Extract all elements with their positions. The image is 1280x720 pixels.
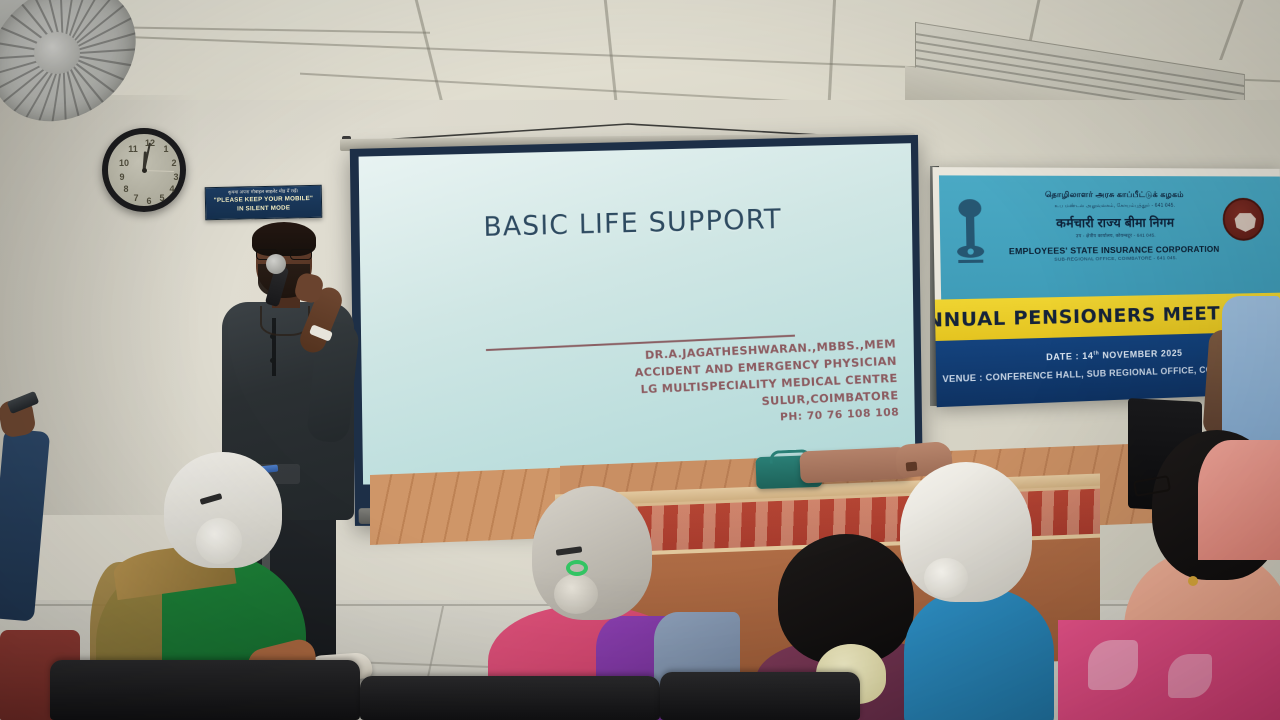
national-emblem-icon bbox=[954, 192, 987, 272]
clock-num: 3 bbox=[170, 172, 182, 182]
banner-tamil-org: தொழிலாளர் அரசு காப்பீட்டுக் கழகம் bbox=[939, 190, 1280, 201]
clock-num: 8 bbox=[120, 184, 132, 194]
audience-partial-right-shoulder bbox=[1198, 440, 1280, 560]
hair-bun bbox=[924, 558, 968, 598]
clock-num: 10 bbox=[118, 158, 130, 168]
audience-woman-blue-blouse bbox=[890, 462, 1070, 720]
conference-hall-scene: 12 1 2 3 4 5 6 7 8 9 10 11 कृपया अपना मो… bbox=[0, 0, 1280, 720]
clock-num: 1 bbox=[160, 144, 172, 154]
clock-num: 6 bbox=[143, 196, 155, 206]
clock-num: 5 bbox=[156, 193, 168, 203]
chair-back[interactable] bbox=[50, 660, 360, 720]
blue-blouse bbox=[904, 588, 1054, 720]
seal-inner-shape bbox=[1231, 209, 1259, 234]
chair-back[interactable] bbox=[660, 672, 860, 720]
saree-print-motif bbox=[1168, 654, 1212, 698]
chair-back[interactable] bbox=[360, 676, 660, 720]
wall-clock: 12 1 2 3 4 5 6 7 8 9 10 11 bbox=[102, 128, 186, 212]
audience-woman-pink-print-saree bbox=[1058, 620, 1280, 720]
banner-date-rest: NOVEMBER 2025 bbox=[1099, 348, 1182, 361]
microphone-head-icon bbox=[266, 254, 286, 274]
clock-second-hand bbox=[144, 170, 174, 172]
wall-mounted-fan bbox=[0, 0, 180, 132]
fan-cage bbox=[0, 0, 144, 139]
hair-bun bbox=[196, 518, 242, 564]
earring-icon bbox=[1188, 576, 1198, 586]
slide-canvas: BASIC LIFE SUPPORT DR.A.JAGATHESHWARAN.,… bbox=[359, 143, 916, 484]
clock-center-pin bbox=[142, 168, 147, 173]
clock-num: 11 bbox=[127, 144, 139, 154]
clock-num: 2 bbox=[168, 158, 180, 168]
banner-header-section: தொழிலாளர் அரசு காப்பீட்டுக் கழகம் உப மண்… bbox=[939, 175, 1280, 301]
slide-title: BASIC LIFE SUPPORT bbox=[359, 200, 912, 246]
saree-print-motif bbox=[1088, 640, 1138, 690]
banner-date-label: DATE : 14 bbox=[1046, 351, 1094, 363]
green-hair-tie bbox=[566, 560, 588, 576]
clock-num: 7 bbox=[130, 193, 142, 203]
silent-mode-sign: कृपया अपना मोबाइल साइलेंट मोड में रखें। … bbox=[205, 185, 323, 220]
presenter-shirt-button bbox=[270, 358, 275, 363]
clock-num: 9 bbox=[116, 172, 128, 182]
esic-seal-icon bbox=[1222, 198, 1264, 241]
pink-garment bbox=[1198, 440, 1280, 560]
fan-hub bbox=[34, 32, 80, 74]
slide-subtitle-block: DR.A.JAGATHESHWARAN.,MBBS.,MEM ACCIDENT … bbox=[465, 335, 900, 439]
hair-bun bbox=[554, 574, 598, 614]
